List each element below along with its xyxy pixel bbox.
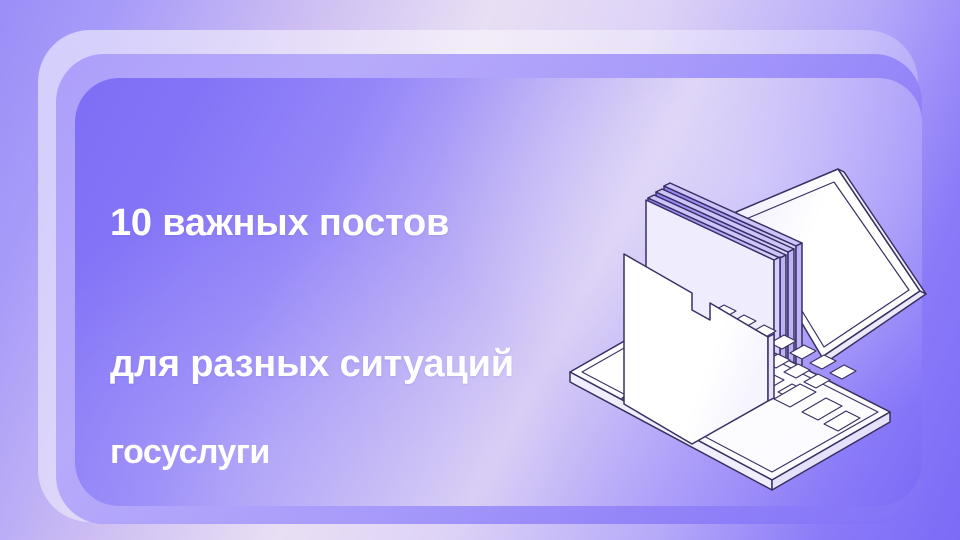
headline: 10 важных постов для разных ситуаций [110, 106, 514, 482]
headline-line-2: для разных ситуаций [110, 341, 514, 388]
gosuslugi-logo: госуслуги [110, 432, 270, 472]
promo-banner: 10 важных постов для разных ситуаций гос… [0, 0, 960, 540]
headline-line-1: 10 важных постов [110, 200, 514, 247]
light-bloom-top-right [442, 78, 922, 438]
